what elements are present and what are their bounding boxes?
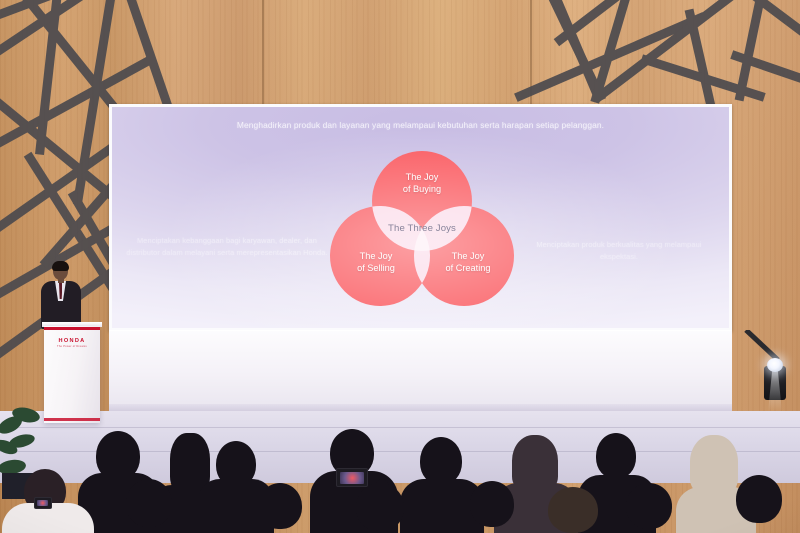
honda-tagline: The Power of Dreams xyxy=(50,345,94,348)
spotlight-icon xyxy=(767,358,783,372)
slide-note-right: Menciptakan produk berkualitas yang mela… xyxy=(521,239,717,263)
audience-head xyxy=(420,437,462,485)
audience-head xyxy=(626,483,672,529)
venn-diagram: The Joy of Buying The Joy of Selling The… xyxy=(328,151,516,306)
stage-base xyxy=(109,330,732,412)
smartphone-icon[interactable] xyxy=(336,468,368,487)
phone-screen xyxy=(37,500,48,506)
audience-head xyxy=(258,483,302,529)
audience-raised-arm xyxy=(320,479,332,533)
smartphone-icon[interactable] xyxy=(34,497,52,509)
speaker-hair xyxy=(52,261,69,271)
audience-head xyxy=(126,479,172,527)
slide-note-left: Menciptakan kebanggaan bagi karyawan, de… xyxy=(126,235,328,259)
phone-screen xyxy=(340,472,364,484)
projection-screen: Menghadirkan produk dan layanan yang mel… xyxy=(109,104,732,331)
audience-head-hijab xyxy=(690,435,738,493)
podium-accent-stripe xyxy=(44,327,100,330)
audience-head xyxy=(596,433,636,479)
audience xyxy=(0,413,800,533)
audience-head xyxy=(548,487,598,533)
speaker-presenter xyxy=(38,262,84,328)
stage-light xyxy=(758,352,792,410)
audience-head xyxy=(470,481,514,527)
presentation-photo: Menghadirkan produk dan layanan yang mel… xyxy=(0,0,800,533)
slide-canvas: Menghadirkan produk dan layanan yang mel… xyxy=(112,107,729,328)
audience-head xyxy=(736,475,782,523)
slide-headline: Menghadirkan produk dan layanan yang mel… xyxy=(112,119,729,132)
honda-logo: HONDA xyxy=(50,338,94,344)
audience-raised-arm xyxy=(376,479,388,533)
